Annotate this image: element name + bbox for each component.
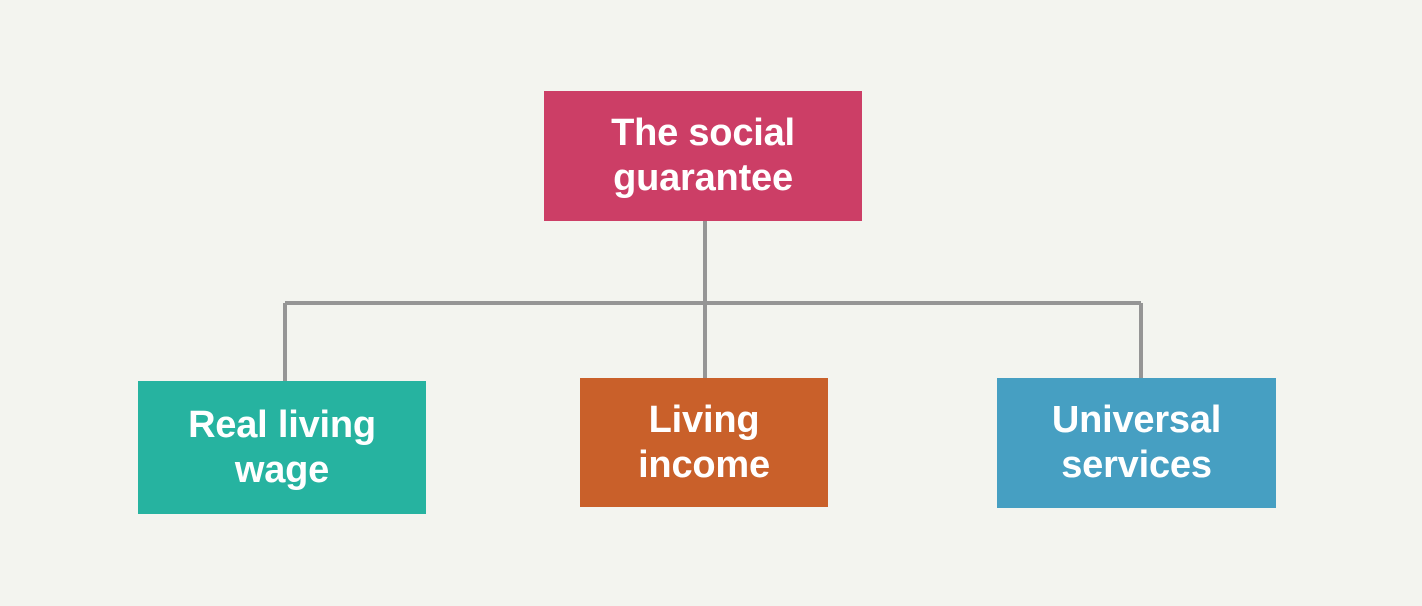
node-label-root: The social guarantee (554, 111, 852, 201)
node-label-real-living-wage: Real living wage (148, 403, 416, 493)
node-label-universal-services: Universal services (1007, 398, 1266, 488)
node-real-living-wage[interactable]: Real living wage (138, 381, 426, 514)
node-living-income[interactable]: Living income (580, 378, 828, 507)
node-label-living-income: Living income (590, 398, 818, 488)
node-universal-services[interactable]: Universal services (997, 378, 1276, 508)
node-the-social-guarantee[interactable]: The social guarantee (544, 91, 862, 221)
diagram-canvas: The social guarantee Real living wage Li… (0, 0, 1422, 606)
